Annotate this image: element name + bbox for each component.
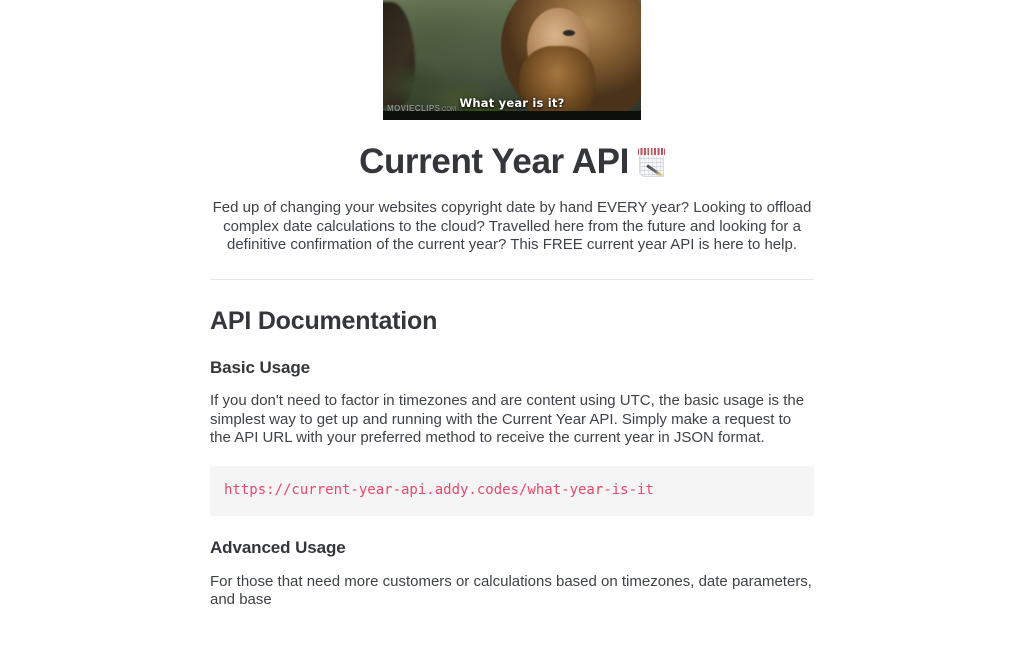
gif-letterbox-bar [383,111,641,120]
basic-usage-paragraph: If you don't need to factor in timezones… [210,392,814,448]
basic-usage-heading: Basic Usage [210,358,814,378]
what-year-is-it-gif: MOVIECLIPS.COM What year is it? [383,0,641,120]
section-divider [210,279,814,280]
notepad-spiral-rings [639,148,664,156]
advanced-usage-paragraph: For those that need more customers or ca… [210,573,814,610]
gif-subtitle: What year is it? [383,96,641,110]
api-url-code[interactable]: https://current-year-api.addy.codes/what… [224,482,654,498]
spiral-notepad-emoji [638,148,665,178]
page-title-text: Current Year API [359,142,629,181]
api-documentation-section: API Documentation Basic Usage If you don… [210,306,814,650]
page-root: MOVIECLIPS.COM What year is it? Current … [0,0,1024,650]
gif-character-eye [563,30,575,36]
bottom-spacer [210,610,814,650]
notepad-body [639,153,664,177]
api-documentation-heading: API Documentation [210,306,814,336]
hero-container: MOVIECLIPS.COM What year is it? [0,0,1024,120]
intro-paragraph: Fed up of changing your websites copyrig… [210,199,814,255]
advanced-usage-heading: Advanced Usage [210,538,814,558]
basic-usage-code-block[interactable]: https://current-year-api.addy.codes/what… [210,466,814,517]
page-title: Current Year API [0,142,1024,182]
